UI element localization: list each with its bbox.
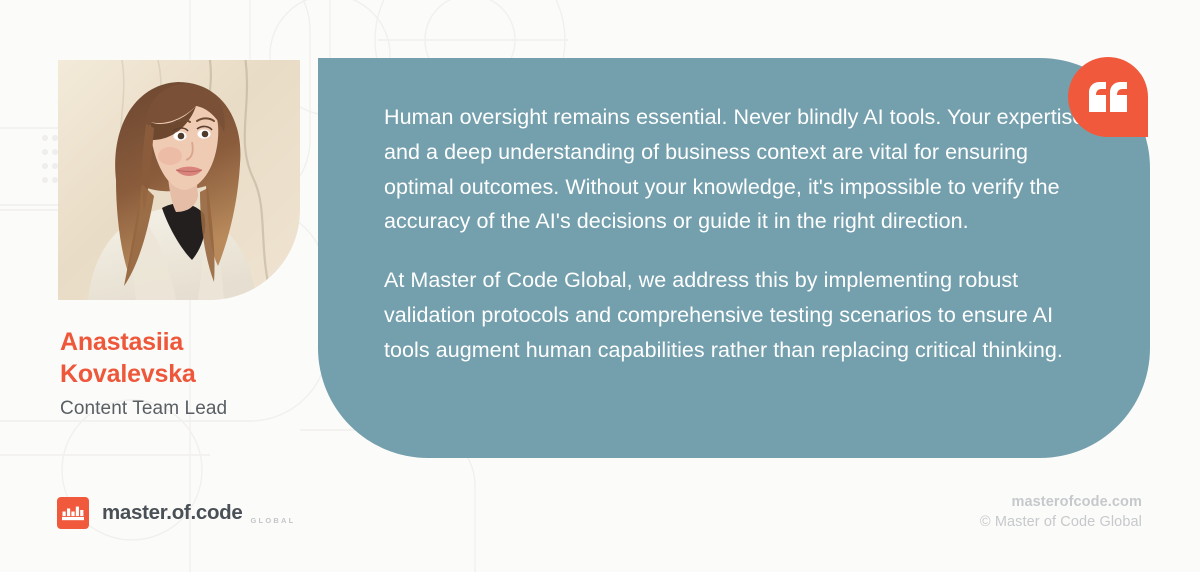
testimonial-card: Anastasiia Kovalevska Content Team Lead … — [0, 0, 1200, 572]
brand-wordmark: master.of.code — [102, 501, 243, 525]
copyright-text: © Master of Code Global — [980, 514, 1142, 530]
quote-paragraph-1: Human oversight remains essential. Never… — [384, 100, 1090, 239]
quote-panel: Human oversight remains essential. Never… — [318, 58, 1150, 458]
brand-wordmark-suffix: GLOBAL — [251, 516, 296, 529]
person-name-line-2: Kovalevska — [60, 360, 196, 388]
person-name: Anastasiia Kovalevska — [60, 326, 310, 390]
avatar — [58, 60, 300, 300]
person-name-line-1: Anastasiia — [60, 328, 183, 356]
quotation-mark-icon — [1068, 57, 1148, 137]
footer-credits: masterofcode.com © Master of Code Global — [980, 494, 1142, 530]
quote-paragraph-2: At Master of Code Global, we address thi… — [384, 263, 1090, 367]
website-url[interactable]: masterofcode.com — [980, 494, 1142, 510]
person-role: Content Team Lead — [60, 398, 320, 420]
master-of-code-logo-icon — [57, 497, 89, 529]
brand-logo[interactable]: master.of.code GLOBAL — [57, 497, 295, 529]
portrait-photo — [58, 60, 300, 300]
